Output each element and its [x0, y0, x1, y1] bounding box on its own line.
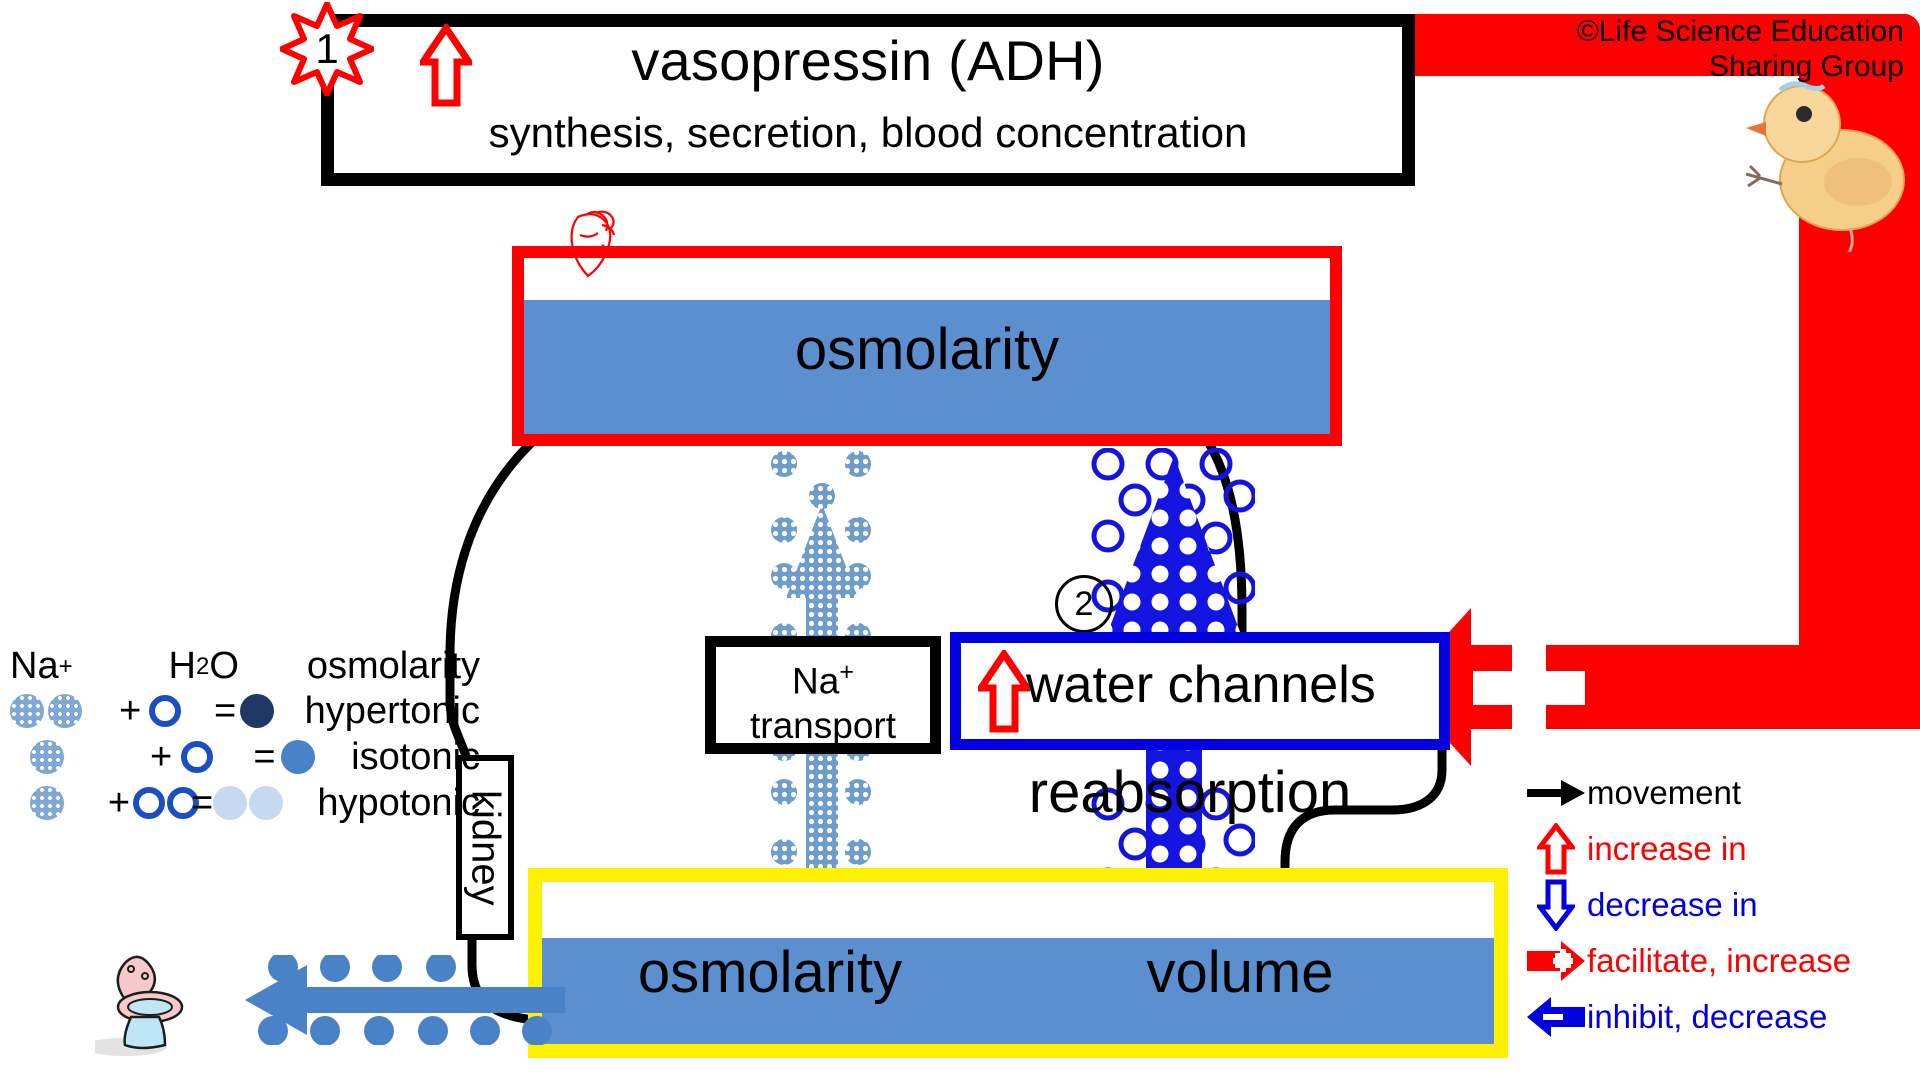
step-badge-1: 1: [280, 2, 374, 96]
tonicity-legend-headers: Na+ H2O osmolarity: [10, 640, 480, 688]
sodium-charge: +: [839, 658, 854, 686]
tonicity-label: hypotonic: [317, 782, 480, 825]
excretion-left-arrow-icon: [245, 955, 565, 1045]
h2o-rings: [133, 787, 199, 819]
tonicity-header-h2o: H2O: [169, 645, 275, 688]
tonicity-header-na: Na+: [10, 645, 126, 688]
red-hollow-up-arrow-icon: [1525, 823, 1587, 875]
reabsorption-label: reabsorption: [990, 760, 1390, 826]
plus-sign: +: [105, 782, 133, 825]
na-dots: [10, 740, 141, 774]
blue-hollow-down-arrow-icon: [1525, 879, 1587, 931]
toilet-icon: [95, 945, 230, 1065]
legend-item-decrease: decrease in: [1525, 877, 1920, 933]
red-up-arrow-increase-icon: [420, 24, 472, 108]
legend-label-inhibit: inhibit, decrease: [1587, 998, 1827, 1036]
blue-minus-arrow-icon: [1525, 997, 1587, 1037]
tonicity-label: hypertonic: [305, 690, 480, 733]
legend-item-inhibit: inhibit, decrease: [1525, 989, 1920, 1045]
solution-dots: [240, 694, 304, 728]
legend-label-increase: increase in: [1587, 830, 1747, 868]
red-plus-icon-cross: [1473, 671, 1585, 705]
legend-item-increase: increase in: [1525, 821, 1920, 877]
legend-item-movement: movement: [1525, 765, 1920, 821]
na-dots: [10, 694, 112, 728]
equals-sign: =: [248, 736, 281, 779]
legend-label-movement: movement: [1587, 774, 1741, 812]
tonicity-row-hypertonic: + = hypertonic: [10, 688, 480, 734]
legend-item-facilitate: facilitate, increase: [1525, 933, 1920, 989]
copyright-line-1: ©Life Science Education: [1398, 14, 1904, 49]
red-up-arrow-increase-icon: [978, 650, 1030, 734]
step-badge-2-label: 2: [1075, 585, 1094, 624]
sodium-transport-word: transport: [705, 703, 941, 748]
key-legend: movement increase in decrease in: [1525, 765, 1920, 1045]
solution-dots: [213, 786, 283, 820]
tonicity-label: isotonic: [351, 736, 480, 779]
legend-label-facilitate: facilitate, increase: [1587, 942, 1851, 980]
plus-sign: +: [112, 690, 149, 733]
tonicity-header-osmolarity: osmolarity: [307, 645, 480, 688]
sodium-transport-label: Na+ transport: [705, 650, 941, 748]
diagram-canvas: ©Life Science Education Sharing Group va…: [0, 0, 1920, 1080]
solution-dots: [281, 740, 351, 774]
equals-sign: =: [191, 782, 214, 825]
vasopressin-subtitle: synthesis, secretion, blood concentratio…: [321, 108, 1415, 158]
urine-osmolarity-label: osmolarity: [560, 940, 980, 1006]
sodium-symbol: Na: [792, 660, 839, 701]
vasopressin-title: vasopressin (ADH): [321, 30, 1415, 92]
blood-osmolarity-label: osmolarity: [524, 318, 1330, 382]
legend-label-decrease: decrease in: [1587, 886, 1758, 924]
black-right-arrow-icon: [1525, 780, 1587, 806]
urine-volume-label: volume: [1060, 940, 1420, 1006]
h2o-rings: [149, 695, 210, 727]
tonicity-legend: Na+ H2O osmolarity + = hypertonic + = is…: [10, 640, 480, 826]
step-badge-1-label: 1: [280, 2, 374, 96]
plus-sign: +: [141, 736, 182, 779]
step-badge-2: 2: [1055, 575, 1113, 633]
na-dots: [10, 786, 105, 820]
tonicity-row-hypotonic: + = hypotonic: [10, 780, 480, 826]
h2o-rings: [181, 741, 247, 773]
equals-sign: =: [210, 690, 240, 733]
tonicity-row-isotonic: + = isotonic: [10, 734, 480, 780]
chick-illustration-icon: [1740, 62, 1920, 252]
heart-icon: [556, 205, 634, 283]
water-channels-label: water channels: [1026, 655, 1436, 715]
red-plus-arrow-icon: [1525, 941, 1587, 981]
